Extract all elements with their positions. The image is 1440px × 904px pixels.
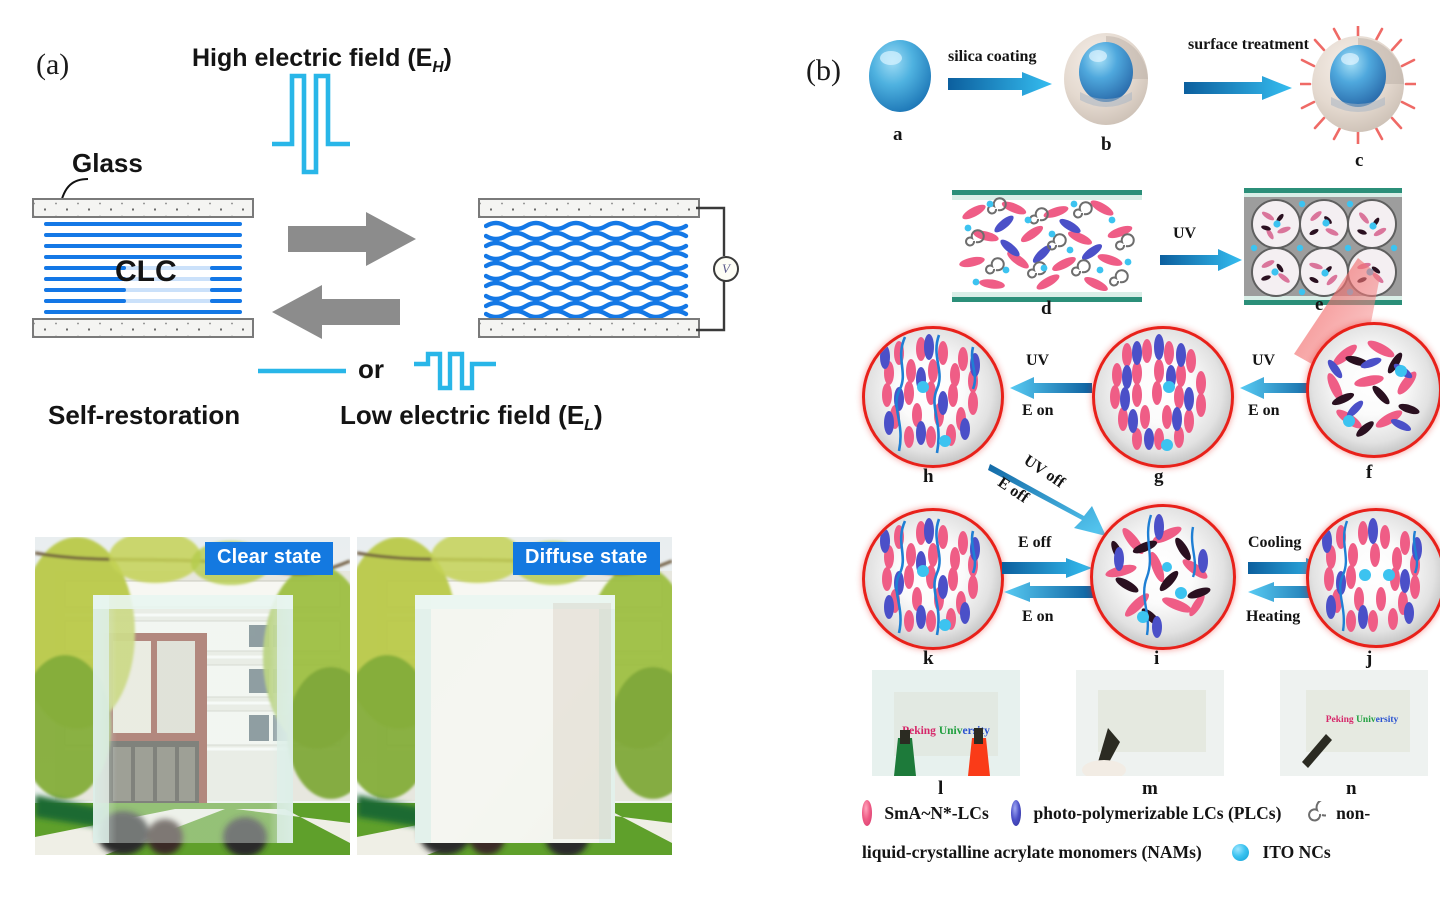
droplet-i: [1090, 504, 1236, 650]
low-field-tail: ): [594, 400, 603, 430]
low-field-waveform-icon: [412, 348, 498, 394]
e-on-label-1: E on: [1022, 402, 1054, 420]
diffuse-state-badge: Diffuse state: [513, 542, 660, 575]
sublabel-a: a: [893, 124, 903, 146]
sublabel-f: f: [1366, 462, 1372, 484]
legend-label-non: non-: [1336, 803, 1370, 823]
e-on-label-3: E on: [1022, 608, 1054, 626]
sample-text-n: Peking University: [1326, 715, 1399, 725]
sublabel-h: h: [923, 466, 934, 488]
legend-line-2: liquid-crystalline acrylate monomers (NA…: [862, 842, 1331, 863]
clear-state-photo: [35, 537, 350, 855]
surface-treatment-label: surface treatment: [1188, 36, 1292, 54]
droplet-k: [862, 508, 1004, 650]
sample-photo-n: Peking University: [1280, 670, 1428, 776]
low-electric-field-title: Low electric field (EL): [340, 400, 603, 435]
sublabel-m: m: [1142, 778, 1158, 800]
forward-arrow-icon: [288, 212, 418, 266]
sublabel-k: k: [923, 648, 934, 670]
cell-d: [952, 190, 1142, 307]
high-field-tail: ): [444, 44, 452, 72]
surface-treatment-arrow-icon: [1184, 74, 1294, 102]
uv-label-2: UV: [1026, 352, 1049, 370]
or-label: or: [358, 354, 384, 385]
right-cell-top-glass: [478, 198, 700, 218]
droplet-f: [1306, 322, 1440, 458]
self-restoration-label: Self-restoration: [48, 400, 240, 431]
low-field-subscript: L: [584, 416, 594, 434]
high-field-waveform-icon: [268, 68, 378, 180]
nam-swirl-icon: [1302, 801, 1326, 825]
sublabel-i: i: [1154, 648, 1159, 670]
sublabel-n: n: [1346, 778, 1357, 800]
diffuse-state-photo: [357, 537, 672, 855]
plc-icon: [1011, 800, 1021, 826]
right-cell-bottom-glass: [478, 318, 700, 338]
legend-label-nams: liquid-crystalline acrylate monomers (NA…: [862, 842, 1202, 862]
silica-coating-label: silica coating: [948, 48, 1036, 66]
coated-nanocrystal-b-icon: [1060, 30, 1152, 128]
silica-coating-arrow-icon: [948, 70, 1054, 98]
sublabel-c: c: [1355, 150, 1363, 172]
panel-a-label: (a): [36, 48, 69, 82]
uv-label-3: UV: [1252, 352, 1275, 370]
e-off-e-on-double-arrow-icon: [1002, 558, 1094, 604]
left-cell-bottom-glass: [32, 318, 254, 338]
legend-line-1: SmA~N*-LCs photo-polymerizable LCs (PLCs…: [862, 800, 1370, 826]
ito-nc-icon: [1232, 844, 1249, 861]
sublabel-l: l: [938, 778, 943, 800]
sublabel-g: g: [1154, 466, 1164, 488]
droplet-h: [862, 326, 1004, 468]
flat-line-icon: [256, 366, 348, 376]
e-off-label-2: E off: [1018, 534, 1051, 552]
sublabel-d: d: [1041, 298, 1052, 320]
cooling-label: Cooling: [1248, 534, 1301, 552]
clear-state-badge: Clear state: [205, 542, 333, 575]
sublabel-b: b: [1101, 134, 1112, 156]
legend-label-smalcs: SmA~N*-LCs: [884, 803, 988, 823]
figure-root: (a) High electric field (EH) Glass CLC: [0, 0, 1440, 904]
uv-e-on-arrow-icon-1: [1006, 376, 1092, 400]
legend-label-itoncs: ITO NCs: [1262, 842, 1330, 862]
uv-label-1: UV: [1173, 225, 1196, 243]
low-field-text: Low electric field (E: [340, 400, 584, 430]
sample-photo-l: Peking University: [872, 670, 1020, 776]
e-on-label-2: E on: [1248, 402, 1280, 420]
high-field-subscript: H: [432, 59, 443, 76]
droplet-j: [1306, 508, 1440, 648]
clc-label: CLC: [115, 255, 177, 289]
heating-label: Heating: [1246, 608, 1300, 626]
sublabel-j: j: [1366, 648, 1372, 670]
panel-b-label: (b): [806, 54, 841, 88]
smectic-lc-icon: [862, 800, 872, 826]
sample-photo-m: [1076, 670, 1224, 776]
reverse-arrow-icon: [270, 285, 400, 339]
uv-arrow-icon-1: [1160, 248, 1244, 272]
nanocrystal-a-icon: [864, 36, 936, 120]
droplet-g: [1092, 326, 1234, 468]
voltmeter-icon: V: [713, 256, 739, 282]
treated-nanocrystal-c-icon: [1300, 26, 1416, 144]
left-cell-top-glass: [32, 198, 254, 218]
legend-label-plcs: photo-polymerizable LCs (PLCs): [1034, 803, 1282, 823]
right-cell-wavy-clc: [484, 220, 694, 318]
